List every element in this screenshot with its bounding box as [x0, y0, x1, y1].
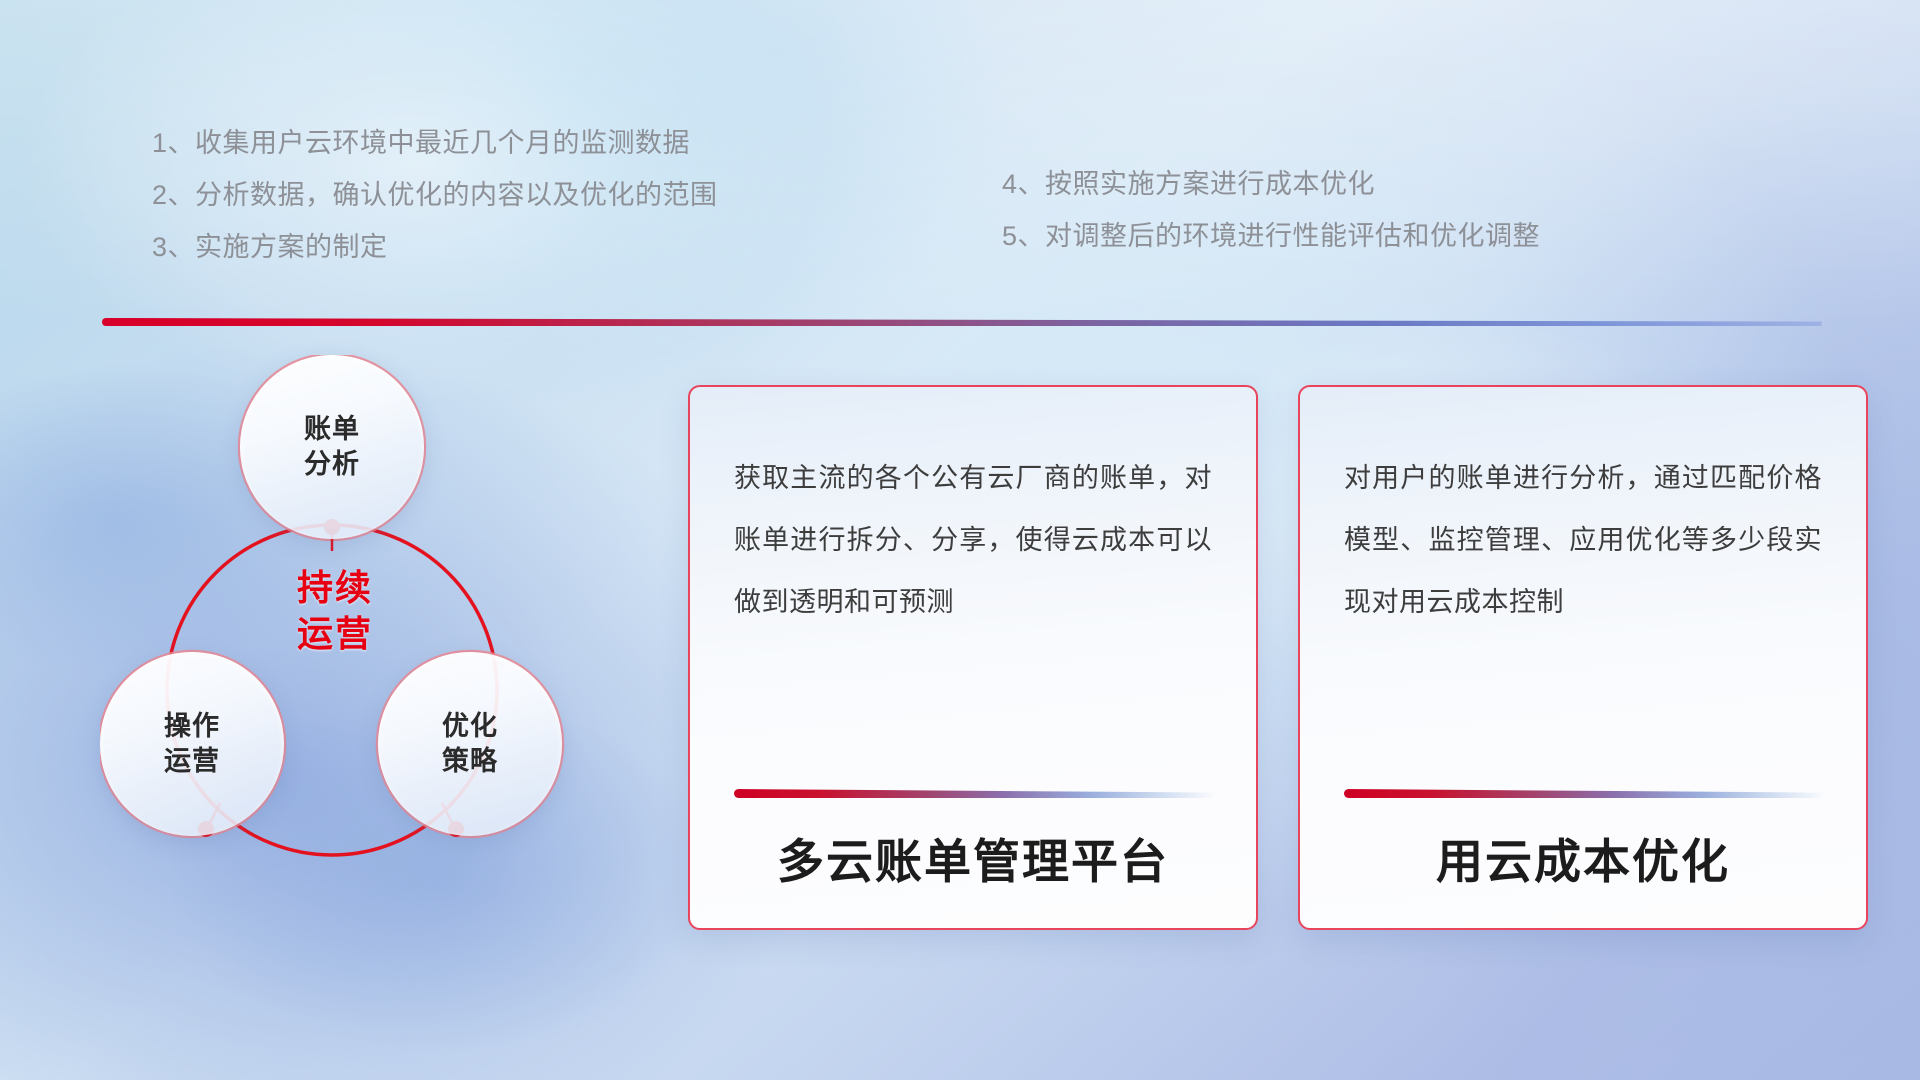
venn-bubble-line1: 优化: [442, 711, 498, 741]
venn-bubble-label: 账单 分析: [304, 412, 360, 482]
venn-center-line2: 运营: [297, 613, 373, 654]
venn-center-label: 持续 运营: [260, 565, 410, 657]
card-body-text: 获取主流的各个公有云厂商的账单，对账单进行拆分、分享，使得云成本可以做到透明和可…: [734, 447, 1212, 633]
card-title: 用云成本优化: [1300, 823, 1866, 892]
steps-section: 1、收集用户云环境中最近几个月的监测数据 2、分析数据，确认优化的内容以及优化的…: [0, 0, 1920, 300]
venn-bubble-line2: 策略: [442, 746, 498, 776]
venn-bubble-line2: 分析: [304, 449, 360, 479]
step-item-4: 4、按照实施方案进行成本优化: [1002, 158, 1540, 210]
steps-list-left: 1、收集用户云环境中最近几个月的监测数据 2、分析数据，确认优化的内容以及优化的…: [152, 117, 718, 273]
venn-bubble-label: 操作 运营: [164, 709, 220, 779]
step-item-2: 2、分析数据，确认优化的内容以及优化的范围: [152, 169, 718, 221]
venn-bubble-line1: 操作: [164, 711, 220, 741]
step-item-1: 1、收集用户云环境中最近几个月的监测数据: [152, 117, 718, 169]
venn-bubble-label: 优化 策略: [442, 709, 498, 779]
venn-bubble-optimization-strategy[interactable]: 优化 策略: [378, 652, 562, 836]
step-item-5: 5、对调整后的环境进行性能评估和优化调整: [1002, 210, 1540, 262]
venn-bubble-billing-analysis[interactable]: 账单 分析: [240, 355, 424, 539]
step-item-3: 3、实施方案的制定: [152, 221, 718, 273]
card-title: 多云账单管理平台: [690, 823, 1256, 892]
venn-bubble-operations[interactable]: 操作 运营: [100, 652, 284, 836]
steps-list-right: 4、按照实施方案进行成本优化 5、对调整后的环境进行性能评估和优化调整: [1002, 158, 1540, 262]
venn-diagram: 账单 分析 操作 运营 优化 策略 持续 运营: [100, 355, 620, 955]
venn-center-line1: 持续: [297, 567, 373, 608]
venn-bubble-line1: 账单: [304, 414, 360, 444]
card-body-text: 对用户的账单进行分析，通过匹配价格模型、监控管理、应用优化等多少段实现对用云成本…: [1344, 447, 1822, 633]
venn-bubble-line2: 运营: [164, 746, 220, 776]
feature-card-multicloud-billing[interactable]: 获取主流的各个公有云厂商的账单，对账单进行拆分、分享，使得云成本可以做到透明和可…: [688, 385, 1258, 930]
feature-card-cloud-cost-optimization[interactable]: 对用户的账单进行分析，通过匹配价格模型、监控管理、应用优化等多少段实现对用云成本…: [1298, 385, 1868, 930]
